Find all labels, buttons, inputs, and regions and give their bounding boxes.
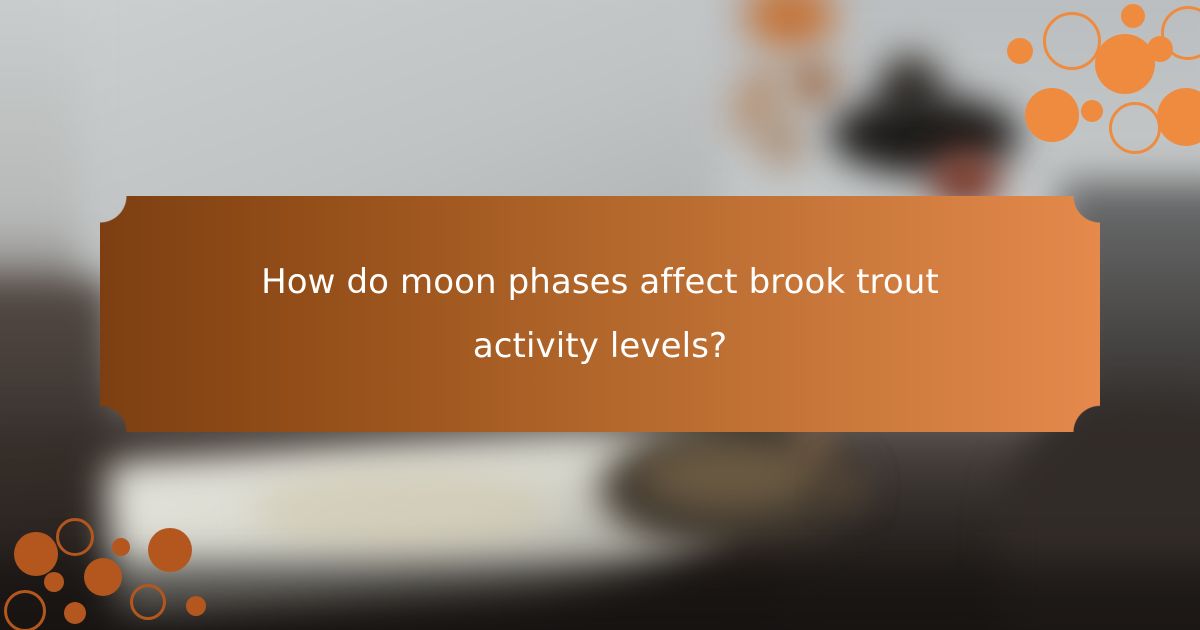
question-banner: How do moon phases affect brook trout ac… [100, 196, 1100, 432]
decorative-circle-filled [14, 532, 58, 576]
decorative-circle-filled [186, 596, 206, 616]
decorative-circle-outline [130, 584, 166, 620]
decorative-circle-filled [1081, 100, 1103, 122]
decorative-circle-filled [1121, 4, 1145, 28]
decorative-circle-filled [1095, 34, 1155, 94]
background-orange-blob-small [790, 60, 836, 106]
decorative-circle-filled [84, 558, 122, 596]
decorative-circle-outline [4, 590, 46, 630]
decorative-circle-filled [148, 528, 192, 572]
decorative-circle-outline [1109, 102, 1161, 154]
decorative-circle-filled [44, 572, 64, 592]
decorative-circle-outline [56, 518, 94, 556]
background-crumb-2 [835, 470, 861, 500]
decorative-circles-bottom-left [0, 510, 235, 630]
decorative-circle-filled [1025, 88, 1079, 142]
decorative-circle-filled [112, 538, 130, 556]
background-paper-tint [250, 470, 550, 550]
decorative-circles-top-right [985, 0, 1200, 120]
background-bowl-inner [640, 440, 820, 510]
decorative-circle-outline [1043, 12, 1101, 70]
decorative-circle-filled [1007, 38, 1033, 64]
decorative-circle-filled [64, 602, 86, 624]
question-text: How do moon phases affect brook trout ac… [250, 250, 950, 378]
